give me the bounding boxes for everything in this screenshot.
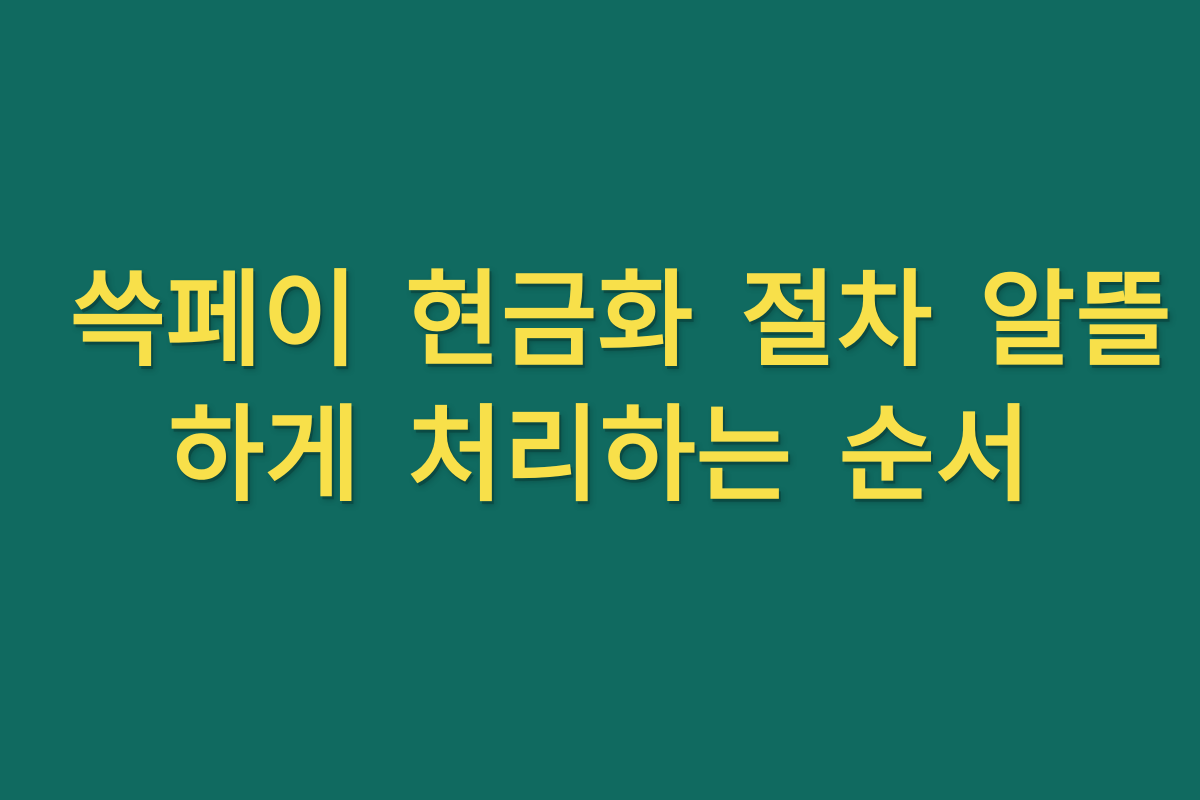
page-title: 쓱페이 현금화 절차 알뜰 하게 처리하는 순서	[70, 253, 1130, 523]
title-line-2: 하게 처리하는 순서	[70, 388, 1130, 523]
title-line-1: 쓱페이 현금화 절차 알뜰	[70, 253, 1130, 388]
title-banner: 쓱페이 현금화 절차 알뜰 하게 처리하는 순서	[0, 0, 1200, 800]
